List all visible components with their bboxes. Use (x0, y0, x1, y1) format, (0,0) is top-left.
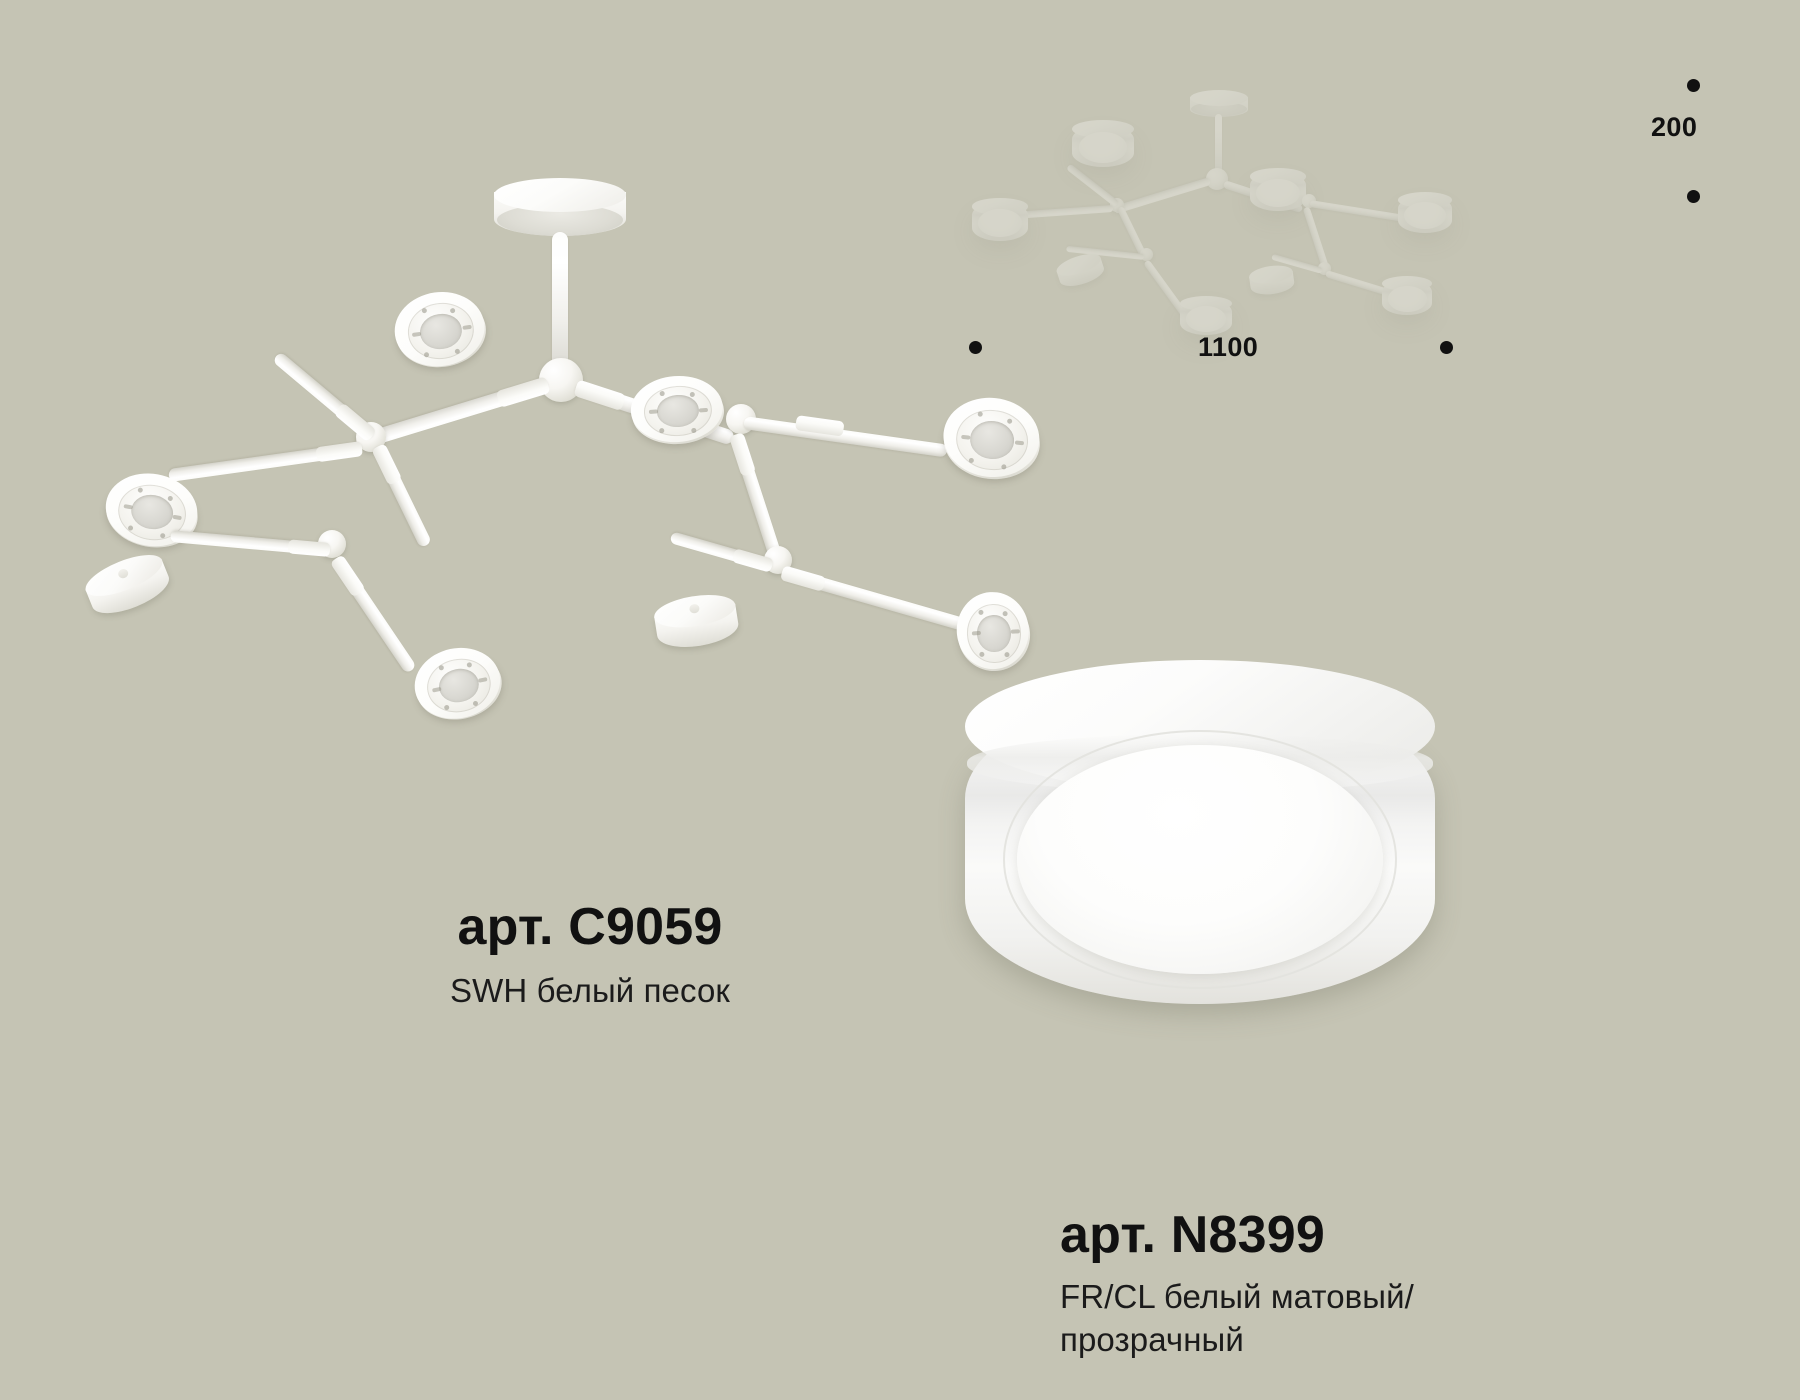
dimension-dot-width-right (1440, 341, 1453, 354)
thumb-shade-far-right (1398, 192, 1452, 236)
shade-description-line1: FR/CL белый матовый/ (1060, 1275, 1620, 1319)
thumb-arm-left-up (1066, 164, 1119, 208)
lamp-head-upper-left (391, 286, 491, 378)
dimension-label-height: 200 (1651, 112, 1697, 143)
thumb-drop-rod (1215, 114, 1222, 176)
thumb-shade-back-center (1248, 263, 1296, 301)
sleeve-bottom-right (780, 565, 826, 592)
thumb-shade-diffuser (978, 209, 1022, 238)
head-screw (689, 391, 694, 396)
lamp-head-bottom-left (409, 640, 509, 732)
thumb-shade-back-left (1054, 250, 1108, 295)
sleeve-far-left (315, 441, 363, 462)
thumb-canopy-top (1190, 90, 1248, 106)
arm-to-head-far-right (743, 416, 948, 457)
shade-description-line2: прозрачный (1060, 1318, 1620, 1362)
head-notch (971, 631, 980, 636)
thumb-shade-bottom-right (1382, 276, 1432, 318)
base-description: SWH белый песок (310, 969, 870, 1013)
sleeve-left-descend (371, 443, 402, 486)
thumb-shade-far-left (972, 198, 1028, 244)
drop-rod (552, 232, 568, 372)
thumb-shade-center-right (1250, 168, 1306, 214)
head-notch (1015, 440, 1024, 445)
dimension-dot-height-bottom (1687, 190, 1700, 203)
lamp-head-back-left (80, 547, 177, 630)
head-screw (691, 427, 696, 432)
sleeve-left-main (496, 376, 551, 407)
head-screw (167, 495, 173, 501)
shade-module-render (965, 660, 1435, 1030)
head-screw (424, 351, 430, 357)
sleeve-right-main (573, 379, 626, 411)
base-article-label: арт. C9059 (310, 900, 870, 955)
thumb-shade-diffuser (1256, 179, 1300, 208)
thumb-shade-diffuser (1388, 286, 1427, 312)
sleeve-right-descend (729, 432, 756, 477)
lamp-head-far-right (940, 393, 1044, 489)
caption-base-product: арт. C9059 SWH белый песок (310, 900, 870, 1012)
thumb-shade-diffuser (1079, 132, 1127, 163)
lamp-head-back-center (652, 590, 742, 660)
caption-shade-product: арт. N8399 FR/CL белый матовый/ прозрачн… (1060, 1208, 1620, 1362)
thumb-arm-left (1113, 177, 1211, 214)
head-screw (449, 307, 455, 313)
head-notch (699, 408, 708, 413)
dimension-dot-width-left (969, 341, 982, 354)
thumb-shade-upper-left (1072, 120, 1134, 170)
head-screw (128, 525, 134, 531)
assembled-fixture-preview (950, 70, 1470, 330)
sleeve-back-left (288, 539, 331, 557)
thumb-arm-left-out (1013, 205, 1113, 219)
canopy-top (494, 178, 626, 212)
ceiling-canopy (494, 178, 626, 238)
thumb-arm-right-down (1303, 206, 1329, 269)
thumb-shade-diffuser (1186, 306, 1227, 332)
head-notch (961, 434, 970, 439)
sleeve-bottom-left (330, 554, 366, 597)
dimension-dot-height-top (1687, 79, 1700, 92)
shade-inner-edge (1003, 730, 1398, 989)
dimension-label-width: 1100 (1198, 332, 1258, 363)
head-screw (978, 610, 983, 615)
product-sheet: арт. C9059 SWH белый песок (0, 0, 1800, 1400)
thumb-arm-far-right (1309, 200, 1409, 223)
lamp-head-far-left (100, 467, 204, 560)
shade-article-label: арт. N8399 (1060, 1208, 1620, 1263)
head-screw (968, 458, 973, 463)
head-screw (137, 487, 143, 493)
lamp-head-center-right (630, 373, 727, 451)
main-fixture-render (0, 0, 1100, 800)
